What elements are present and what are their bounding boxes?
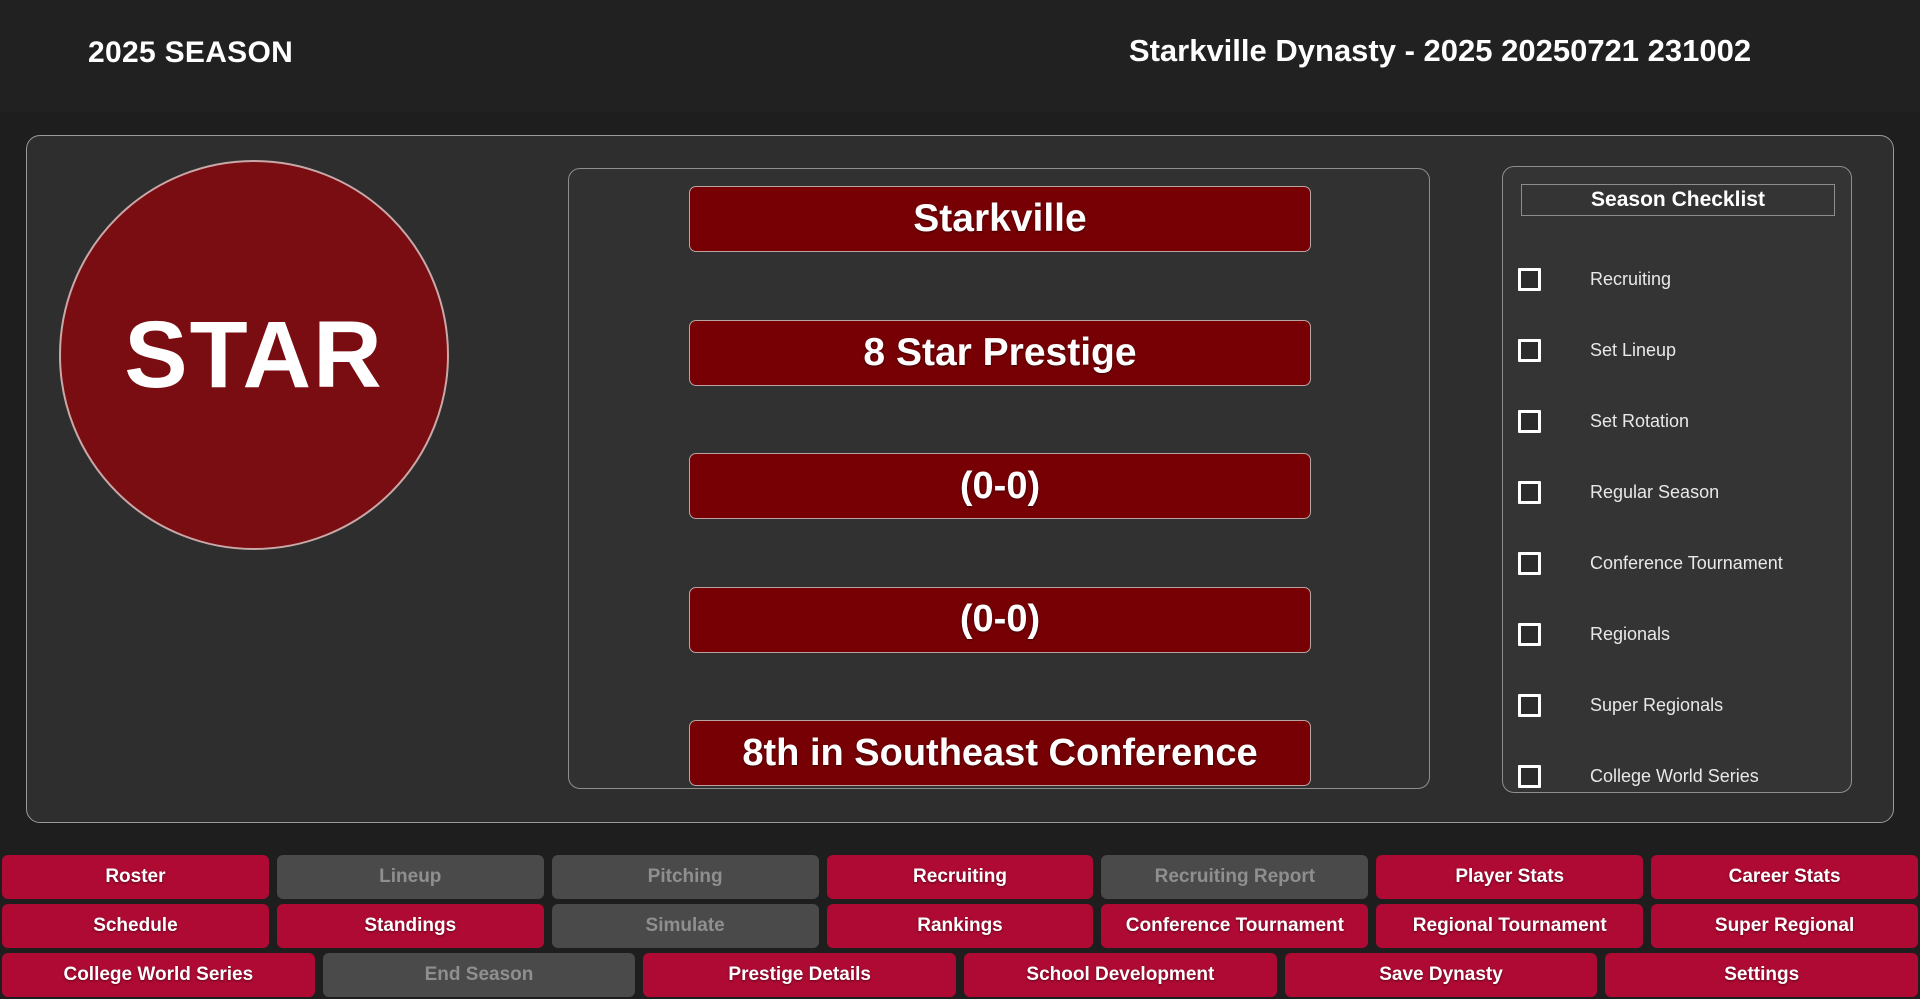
nav-button-rankings[interactable]: Rankings [827, 904, 1094, 948]
team-prestige-bar: 8 Star Prestige [689, 320, 1311, 386]
nav-button-simulate: Simulate [552, 904, 819, 948]
team-name-bar: Starkville [689, 186, 1311, 252]
checkbox-icon[interactable] [1518, 694, 1541, 717]
season-checklist-items: RecruitingSet LineupSet RotationRegular … [1503, 244, 1853, 812]
nav-button-player-stats[interactable]: Player Stats [1376, 855, 1643, 899]
nav-button-super-regional[interactable]: Super Regional [1651, 904, 1918, 948]
nav-button-recruiting-report: Recruiting Report [1101, 855, 1368, 899]
checklist-item-label: Regular Season [1590, 482, 1719, 503]
navigation-row-3: College World SeriesEnd SeasonPrestige D… [0, 950, 1920, 999]
nav-button-conference-tournament[interactable]: Conference Tournament [1101, 904, 1368, 948]
navigation-button-area: RosterLineupPitchingRecruitingRecruiting… [0, 852, 1920, 999]
team-name-text: Starkville [913, 197, 1086, 241]
team-conference-record-text: (0-0) [960, 598, 1040, 641]
team-conference-standing-bar: 8th in Southeast Conference [689, 720, 1311, 786]
checklist-item-label: Super Regionals [1590, 695, 1723, 716]
checkbox-icon[interactable] [1518, 410, 1541, 433]
nav-button-save-dynasty[interactable]: Save Dynasty [1285, 953, 1598, 997]
nav-button-end-season: End Season [323, 953, 636, 997]
checkbox-icon[interactable] [1518, 765, 1541, 788]
checkbox-icon[interactable] [1518, 339, 1541, 362]
team-logo-circle: STAR [59, 160, 449, 550]
team-overall-record-text: (0-0) [960, 465, 1040, 508]
dynasty-title: Starkville Dynasty - 2025 20250721 23100… [1129, 33, 1751, 69]
checklist-item-label: Conference Tournament [1590, 553, 1783, 574]
checklist-item-label: Set Rotation [1590, 411, 1689, 432]
dynasty-dashboard: 2025 SEASON Starkville Dynasty - 2025 20… [0, 0, 1920, 999]
checkbox-icon[interactable] [1518, 552, 1541, 575]
navigation-row-2: ScheduleStandingsSimulateRankingsConfere… [0, 901, 1920, 950]
nav-button-career-stats[interactable]: Career Stats [1651, 855, 1918, 899]
season-checklist-title-box: Season Checklist [1521, 184, 1835, 216]
team-conference-record-bar: (0-0) [689, 587, 1311, 653]
checklist-item[interactable]: Recruiting [1503, 244, 1853, 315]
season-label: 2025 SEASON [88, 36, 293, 70]
nav-button-college-world-series[interactable]: College World Series [2, 953, 315, 997]
checklist-item-label: Regionals [1590, 624, 1670, 645]
season-checklist-panel: Season Checklist RecruitingSet LineupSet… [1502, 166, 1852, 793]
checklist-item[interactable]: Set Lineup [1503, 315, 1853, 386]
checklist-item[interactable]: Super Regionals [1503, 670, 1853, 741]
app-header: 2025 SEASON Starkville Dynasty - 2025 20… [0, 0, 1920, 112]
team-info-panel: Starkville 8 Star Prestige (0-0) (0-0) 8… [568, 168, 1430, 789]
checklist-item[interactable]: Regionals [1503, 599, 1853, 670]
checklist-item[interactable]: Conference Tournament [1503, 528, 1853, 599]
nav-button-roster[interactable]: Roster [2, 855, 269, 899]
nav-button-prestige-details[interactable]: Prestige Details [643, 953, 956, 997]
nav-button-lineup: Lineup [277, 855, 544, 899]
nav-button-school-development[interactable]: School Development [964, 953, 1277, 997]
nav-button-schedule[interactable]: Schedule [2, 904, 269, 948]
team-conference-standing-text: 8th in Southeast Conference [742, 732, 1257, 775]
nav-button-regional-tournament[interactable]: Regional Tournament [1376, 904, 1643, 948]
checklist-item[interactable]: Regular Season [1503, 457, 1853, 528]
checklist-item-label: College World Series [1590, 766, 1759, 787]
team-info-bars: Starkville 8 Star Prestige (0-0) (0-0) 8… [689, 186, 1311, 786]
checklist-item-label: Set Lineup [1590, 340, 1676, 361]
nav-button-recruiting[interactable]: Recruiting [827, 855, 1094, 899]
checkbox-icon[interactable] [1518, 481, 1541, 504]
checkbox-icon[interactable] [1518, 268, 1541, 291]
team-logo: STAR [44, 145, 464, 565]
team-prestige-text: 8 Star Prestige [863, 331, 1136, 375]
checklist-item[interactable]: Set Rotation [1503, 386, 1853, 457]
checklist-item[interactable]: College World Series [1503, 741, 1853, 812]
nav-button-standings[interactable]: Standings [277, 904, 544, 948]
team-overall-record-bar: (0-0) [689, 453, 1311, 519]
checkbox-icon[interactable] [1518, 623, 1541, 646]
season-checklist-title: Season Checklist [1591, 188, 1765, 212]
checklist-item-label: Recruiting [1590, 269, 1671, 290]
team-logo-abbreviation: STAR [124, 308, 384, 403]
nav-button-pitching: Pitching [552, 855, 819, 899]
navigation-row-1: RosterLineupPitchingRecruitingRecruiting… [0, 852, 1920, 901]
nav-button-settings[interactable]: Settings [1605, 953, 1918, 997]
